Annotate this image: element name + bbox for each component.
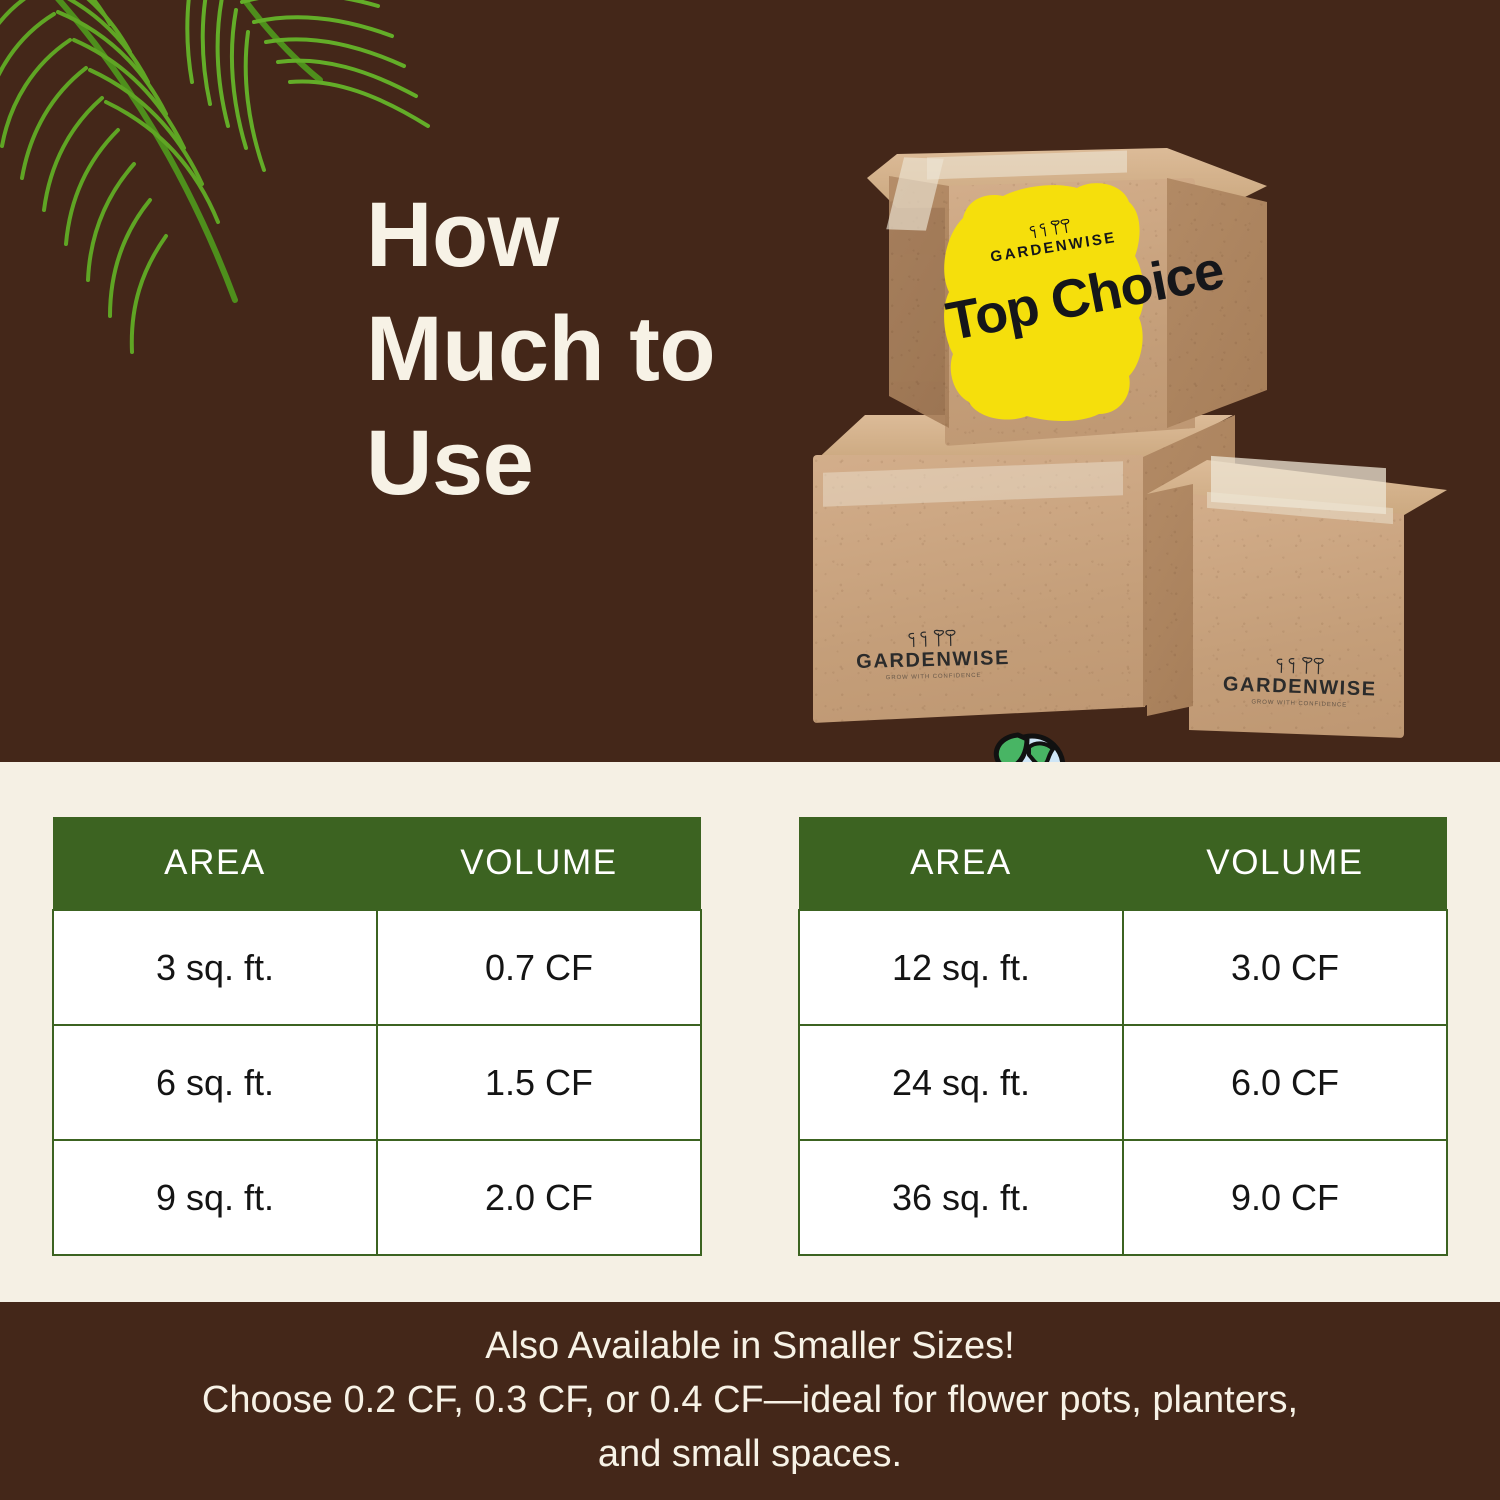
cell-volume: 9.0 CF — [1123, 1140, 1447, 1255]
middle-box-brand-mark: GARDENWISE GROW WITH CONFIDENCE — [842, 627, 1023, 683]
usage-table-right: AREA VOLUME 12 sq. ft. 3.0 CF 24 sq. ft.… — [798, 817, 1448, 1256]
right-box-brand-mark: GARDENWISE GROW WITH CONFIDENCE — [1214, 653, 1386, 710]
sprout-icon — [1273, 655, 1328, 675]
footer-line-2: Choose 0.2 CF, 0.3 CF, or 0.4 CF—ideal f… — [202, 1374, 1298, 1428]
footer-line-1: Also Available in Smaller Sizes! — [485, 1320, 1014, 1374]
cell-area: 9 sq. ft. — [53, 1140, 377, 1255]
headline-line-1: How — [366, 178, 766, 292]
tables-section: AREA VOLUME 3 sq. ft. 0.7 CF 6 sq. ft. 1… — [0, 762, 1500, 1302]
page-title: How Much to Use — [366, 178, 766, 520]
footer-section: Also Available in Smaller Sizes! Choose … — [0, 1302, 1500, 1500]
cell-volume: 2.0 CF — [377, 1140, 701, 1255]
cell-area: 3 sq. ft. — [53, 910, 377, 1025]
cell-area: 36 sq. ft. — [799, 1140, 1123, 1255]
usage-table-left: AREA VOLUME 3 sq. ft. 0.7 CF 6 sq. ft. 1… — [52, 817, 702, 1256]
cell-area: 6 sq. ft. — [53, 1025, 377, 1140]
cell-area: 24 sq. ft. — [799, 1025, 1123, 1140]
table-header-row: AREA VOLUME — [53, 817, 701, 910]
table-header-row: AREA VOLUME — [799, 817, 1447, 910]
cell-volume: 3.0 CF — [1123, 910, 1447, 1025]
cell-volume: 6.0 CF — [1123, 1025, 1447, 1140]
cell-volume: 0.7 CF — [377, 910, 701, 1025]
headline-line-3: Use — [366, 406, 766, 520]
table-row: 6 sq. ft. 1.5 CF — [53, 1025, 701, 1140]
sprout-icon — [905, 628, 959, 647]
middle-box-brand-name: GARDENWISE — [843, 647, 1024, 675]
cell-area: 12 sq. ft. — [799, 910, 1123, 1025]
column-header-volume: VOLUME — [377, 817, 701, 910]
product-box-stack: GARDENWISE GROW WITH CONFIDENCE — [795, 130, 1495, 730]
table-row: 3 sq. ft. 0.7 CF — [53, 910, 701, 1025]
right-box-brand-name: GARDENWISE — [1214, 673, 1385, 702]
table-row: 24 sq. ft. 6.0 CF — [799, 1025, 1447, 1140]
top-box: GARDENWISE Top Choice — [867, 148, 1267, 448]
table-row: 12 sq. ft. 3.0 CF — [799, 910, 1447, 1025]
earth-globe-leaf-icon — [985, 725, 1071, 762]
column-header-area: AREA — [799, 817, 1123, 910]
table-row: 9 sq. ft. 2.0 CF — [53, 1140, 701, 1255]
headline-line-2: Much to — [366, 292, 766, 406]
table-row: 36 sq. ft. 9.0 CF — [799, 1140, 1447, 1255]
cell-volume: 1.5 CF — [377, 1025, 701, 1140]
right-box: GARDENWISE GROW WITH CONFIDENCE — [1147, 460, 1447, 740]
hero-section: How Much to Use — [0, 0, 1500, 762]
column-header-area: AREA — [53, 817, 377, 910]
column-header-volume: VOLUME — [1123, 817, 1447, 910]
footer-line-3: and small spaces. — [598, 1428, 902, 1482]
